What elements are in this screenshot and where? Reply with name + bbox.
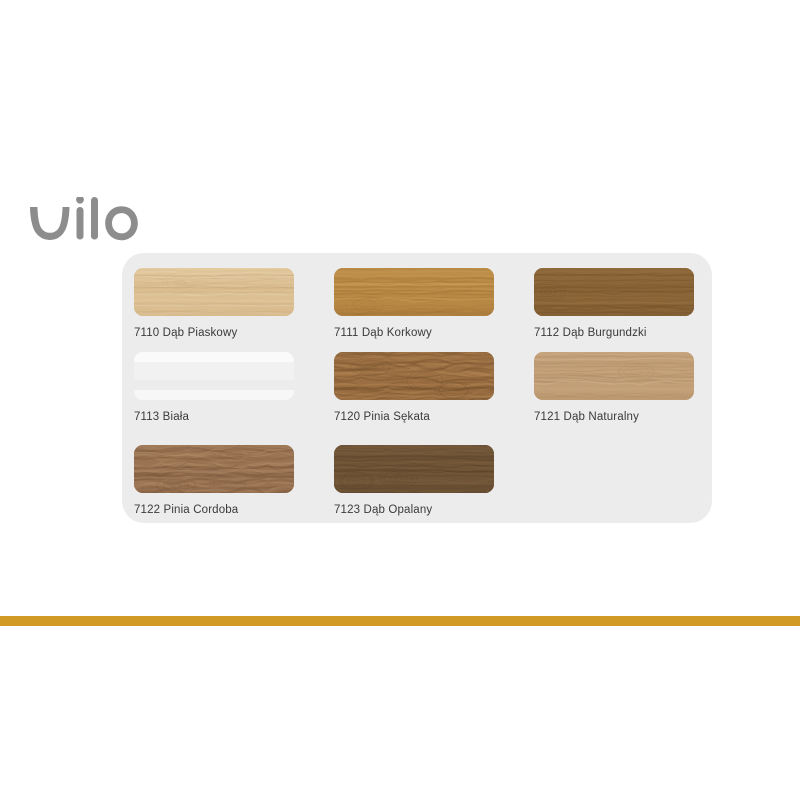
swatch-label-7122: 7122 Pinia Cordoba <box>134 503 294 517</box>
swatch-cell-7113[interactable]: 7113 Biała <box>134 352 294 424</box>
swatch-label-7111: 7111 Dąb Korkowy <box>334 326 494 340</box>
swatch-chip-7121[interactable] <box>534 352 694 400</box>
wood-grain-oak-horizontal <box>134 268 294 316</box>
swatch-chip-7110[interactable] <box>134 268 294 316</box>
swatch-chip-7111[interactable] <box>334 268 494 316</box>
swatch-chip-7113[interactable] <box>134 352 294 400</box>
swatch-chip-7112[interactable] <box>534 268 694 316</box>
wood-grain-plain-white <box>134 352 294 400</box>
wood-grain-oak-horizontal <box>534 268 694 316</box>
swatch-chip-7123[interactable] <box>334 445 494 493</box>
wood-grain-oak-horizontal <box>334 268 494 316</box>
swatch-label-7121: 7121 Dąb Naturalny <box>534 410 694 424</box>
swatch-cell-7121[interactable]: 7121 Dąb Naturalny <box>534 352 694 424</box>
swatch-label-7120: 7120 Pinia Sękata <box>334 410 494 424</box>
vilo-logo <box>26 197 146 249</box>
swatch-cell-7122[interactable]: 7122 Pinia Cordoba <box>134 445 294 517</box>
swatch-label-7123: 7123 Dąb Opalany <box>334 503 494 517</box>
swatch-cell-7110[interactable]: 7110 Dąb Piaskowy <box>134 268 294 340</box>
page-canvas: 7110 Dąb Piaskowy7111 Dąb Korkowy7112 Dą… <box>0 0 800 800</box>
swatch-label-7113: 7113 Biała <box>134 410 294 424</box>
swatch-cell-7112[interactable]: 7112 Dąb Burgundzki <box>534 268 694 340</box>
swatch-chip-7120[interactable] <box>334 352 494 400</box>
swatch-grid: 7110 Dąb Piaskowy7111 Dąb Korkowy7112 Dą… <box>122 253 712 523</box>
swatch-cell-7120[interactable]: 7120 Pinia Sękata <box>334 352 494 424</box>
wood-grain-pine-rustic <box>134 445 294 493</box>
accent-divider-bar <box>0 616 800 626</box>
swatch-card: 7110 Dąb Piaskowy7111 Dąb Korkowy7112 Dą… <box>122 253 712 523</box>
wood-grain-oak-horizontal <box>534 352 694 400</box>
swatch-cell-7111[interactable]: 7111 Dąb Korkowy <box>334 268 494 340</box>
wood-grain-pine-knotty <box>334 352 494 400</box>
wood-grain-oak-scorched <box>334 445 494 493</box>
swatch-label-7110: 7110 Dąb Piaskowy <box>134 326 294 340</box>
vilo-logo-icon <box>26 197 146 249</box>
swatch-cell-7123[interactable]: 7123 Dąb Opalany <box>334 445 494 517</box>
swatch-label-7112: 7112 Dąb Burgundzki <box>534 326 694 340</box>
swatch-chip-7122[interactable] <box>134 445 294 493</box>
